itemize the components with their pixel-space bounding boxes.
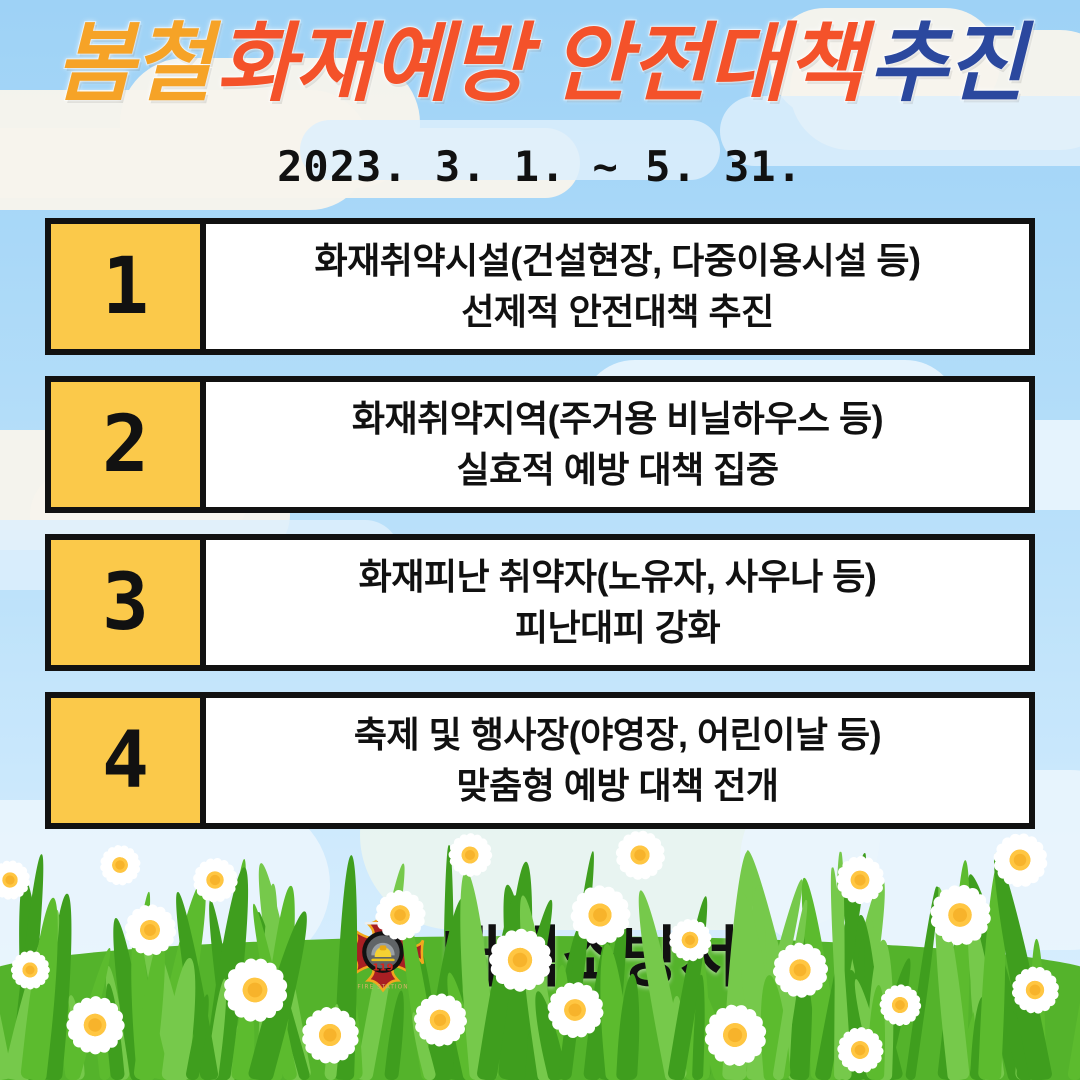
measure-number: 1 bbox=[51, 224, 206, 349]
measure-text: 화재취약지역(주거용 비닐하우스 등) 실효적 예방 대책 집중 bbox=[206, 382, 1029, 507]
measure-line-1: 화재피난 취약자(노유자, 사우나 등) bbox=[359, 554, 877, 601]
measure-row: 1 화재취약시설(건설현장, 다중이용시설 등) 선제적 안전대책 추진 bbox=[45, 218, 1035, 355]
measure-number: 3 bbox=[51, 540, 206, 665]
measure-line-1: 축제 및 행사장(야영장, 어린이날 등) bbox=[354, 712, 881, 759]
measure-text: 화재취약시설(건설현장, 다중이용시설 등) 선제적 안전대책 추진 bbox=[206, 224, 1029, 349]
measure-row: 4 축제 및 행사장(야영장, 어린이날 등) 맞춤형 예방 대책 전개 bbox=[45, 692, 1035, 829]
measure-text: 화재피난 취약자(노유자, 사우나 등) 피난대피 강화 bbox=[206, 540, 1029, 665]
title-part-action: 추진 bbox=[868, 16, 1024, 112]
title-part-season: 봄철 bbox=[55, 16, 211, 112]
svg-text:FIRE STATION: FIRE STATION bbox=[357, 985, 408, 991]
measures-list: 1 화재취약시설(건설현장, 다중이용시설 등) 선제적 안전대책 추진 2 화… bbox=[45, 218, 1035, 850]
title-part-topic: 화재예방 안전대책 bbox=[216, 16, 864, 112]
measure-line-2: 피난대피 강화 bbox=[515, 605, 720, 652]
poster-subtitle: 2023. 3. 1. ~ 5. 31. bbox=[0, 142, 1080, 191]
measure-line-2: 선제적 안전대책 추진 bbox=[461, 289, 774, 336]
poster-canvas: 봄철 화재예방 안전대책 추진 2023. 3. 1. ~ 5. 31. 1 화… bbox=[0, 0, 1080, 1080]
organization-name: 태백소방서 bbox=[441, 924, 740, 990]
measure-line-2: 맞춤형 예방 대책 전개 bbox=[456, 763, 778, 810]
measure-line-2: 실효적 예방 대책 집중 bbox=[456, 447, 778, 494]
measure-line-1: 화재취약지역(주거용 비닐하우스 등) bbox=[352, 396, 883, 443]
measure-row: 3 화재피난 취약자(노유자, 사우나 등) 피난대피 강화 bbox=[45, 534, 1035, 671]
date-range: 2023. 3. 1. ~ 5. 31. bbox=[277, 142, 803, 191]
fire-department-emblem-icon: 119 FIRE STATION bbox=[341, 912, 425, 1002]
svg-text:119: 119 bbox=[372, 962, 393, 973]
measure-line-1: 화재취약시설(건설현장, 다중이용시설 등) bbox=[314, 238, 920, 285]
poster-title: 봄철 화재예방 안전대책 추진 bbox=[0, 16, 1080, 112]
footer-brand: 119 FIRE STATION 태백소방서 bbox=[0, 912, 1080, 1002]
measure-number: 2 bbox=[51, 382, 206, 507]
measure-row: 2 화재취약지역(주거용 비닐하우스 등) 실효적 예방 대책 집중 bbox=[45, 376, 1035, 513]
measure-text: 축제 및 행사장(야영장, 어린이날 등) 맞춤형 예방 대책 전개 bbox=[206, 698, 1029, 823]
measure-number: 4 bbox=[51, 698, 206, 823]
